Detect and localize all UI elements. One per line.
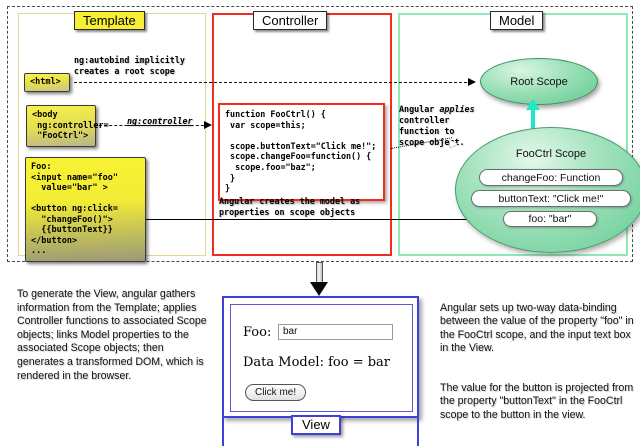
- view-box: Foo: bar Data Model: foo = bar Click me!: [222, 296, 419, 418]
- connector-to-view-shaft: [316, 262, 323, 284]
- panel-title-controller: Controller: [253, 11, 327, 30]
- caption-right-paragraph-1: Angular sets up two-way data-binding bet…: [440, 302, 636, 356]
- view-data-model-text: Data Model: foo = bar: [243, 355, 390, 370]
- diagram-canvas: Template Controller Model ng:autobind im…: [0, 0, 640, 446]
- view-foo-label: Foo:: [243, 325, 271, 340]
- connector-body-to-controller: [99, 125, 209, 126]
- view-box-inner-frame: Foo: bar Data Model: foo = bar Click me!: [230, 304, 413, 412]
- view-foo-input[interactable]: bar: [278, 324, 393, 340]
- caption-right-paragraph-2: The value for the button is projected fr…: [440, 382, 636, 423]
- controller-code-block: function FooCtrl() { var scope=this; sco…: [218, 103, 385, 201]
- annotation-ng-autobind: ng:autobind implicitly creates a root sc…: [74, 55, 185, 77]
- view-click-me-button[interactable]: Click me!: [245, 384, 306, 401]
- template-html-tag: <html>: [24, 73, 70, 92]
- caption-left: To generate the View, angular gathers in…: [17, 288, 213, 383]
- connector-to-view-arrowhead: [310, 282, 328, 296]
- annotation-applies-emphasis: applies: [439, 104, 474, 114]
- view-label-chip: View: [291, 415, 341, 435]
- annotation-applies-prefix: Angular: [399, 104, 439, 114]
- scope-property-changefoo: changeFoo: Function: [479, 169, 623, 186]
- arrowhead-fooctrl-scope: [450, 140, 458, 148]
- annotation-angular-applies: Angular applies controller function to s…: [399, 104, 475, 148]
- scope-inheritance-arrow: [531, 107, 535, 130]
- arrowhead-controller: [204, 121, 212, 129]
- template-foo-markup: Foo: <input name="foo" value="bar" > <bu…: [25, 157, 146, 262]
- annotation-creates-model: Angular creates the model as properties …: [219, 196, 360, 218]
- scope-property-buttontext: buttonText: "Click me!": [471, 190, 631, 207]
- fooctrl-scope-label: FooCtrl Scope: [456, 148, 640, 160]
- root-scope-ellipse: Root Scope: [480, 58, 598, 105]
- connector-template-to-foo-property: [146, 219, 502, 220]
- connector-html-to-root-scope: [74, 82, 472, 83]
- caption-right: Angular sets up two-way data-binding bet…: [440, 288, 636, 448]
- scope-property-foo: foo: "bar": [503, 211, 597, 227]
- panel-title-template: Template: [74, 11, 145, 30]
- arrowhead-root-scope: [468, 78, 476, 86]
- template-body-tag: <body ng:controller= "FooCtrl">: [26, 105, 96, 147]
- panel-title-model: Model: [490, 11, 543, 30]
